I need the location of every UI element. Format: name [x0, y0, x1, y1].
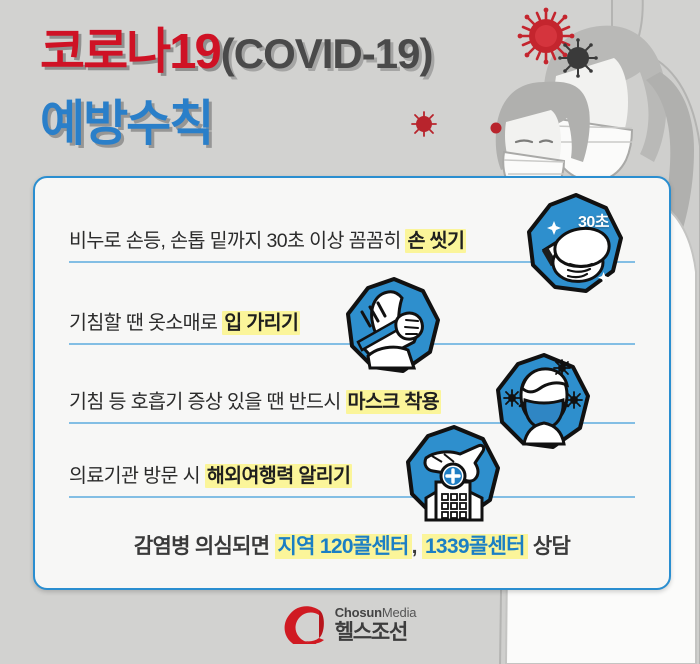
footer-logo: ChosunMedia 헬스조선 [0, 604, 700, 644]
footer-brand-chosun: Chosun [335, 605, 382, 620]
tip-highlight-1: 손 씻기 [405, 229, 466, 253]
title-english: (COVID-19) [221, 33, 433, 75]
virus-particle-large [518, 8, 575, 65]
tip-plain-2: 기침할 땐 옷소매로 [69, 312, 222, 334]
call-center-number-2: 1339콜센터 [422, 534, 528, 559]
tip-row-4: 의료기관 방문 시 해외여행력 알리기 [69, 459, 635, 488]
tip-plain-4: 의료기관 방문 시 [69, 465, 205, 487]
cough-into-sleeve-icon [344, 276, 444, 376]
title-korean: 코로나19 [40, 28, 220, 77]
duration-badge-30s: 30초 [578, 208, 609, 232]
tip-plain-3: 기침 등 호흡기 증상 있을 땐 반드시 [69, 391, 346, 413]
hospital-airplane-icon [404, 424, 504, 524]
virus-particle-small-b [491, 123, 502, 134]
hand-washing-icon: 30초 [524, 192, 628, 296]
footer-brand-en: ChosunMedia [335, 606, 417, 619]
call-center-separator: , [412, 535, 422, 558]
title-subtitle: 예방수칙 [40, 84, 432, 155]
page-title: 코로나19 (COVID-19) 예방수칙 [40, 28, 432, 155]
tip-highlight-2: 입 가리기 [222, 311, 300, 335]
call-center-line: 감염병 의심되면 지역 120콜센터, 1339콜센터 상담 [35, 530, 669, 560]
title-line-1: 코로나19 (COVID-19) [40, 28, 432, 77]
call-center-lead: 감염병 의심되면 [134, 535, 275, 558]
tip-highlight-3: 마스크 착용 [346, 390, 442, 414]
tip-text-4: 의료기관 방문 시 해외여행력 알리기 [69, 459, 635, 488]
chosun-swoosh-icon [284, 604, 326, 644]
face-mask-icon [494, 352, 594, 452]
footer-brand-media: Media [382, 605, 416, 620]
virus-particle-dark [558, 38, 598, 78]
call-center-trail: 상담 [528, 535, 570, 558]
footer-brand-text: ChosunMedia 헬스조선 [335, 606, 417, 643]
call-center-number-1: 지역 120콜센터 [275, 534, 412, 559]
footer-brand-kr: 헬스조선 [335, 622, 417, 643]
tip-plain-1: 비누로 손등, 손톱 밑까지 30초 이상 꼼꼼히 [69, 230, 405, 252]
tip-divider-4 [69, 496, 635, 498]
tip-highlight-4: 해외여행력 알리기 [205, 464, 353, 488]
